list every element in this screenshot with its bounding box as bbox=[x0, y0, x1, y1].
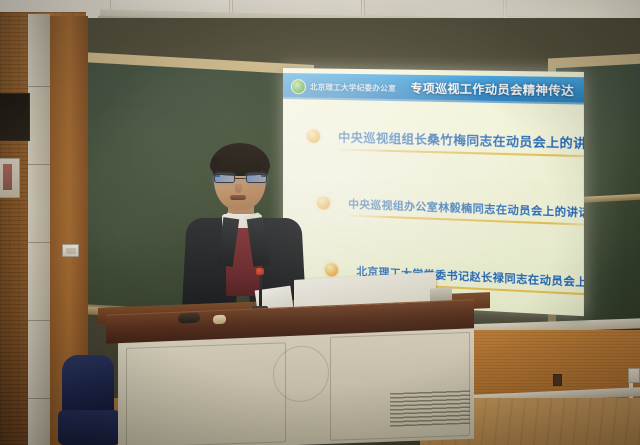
chair-backrest[interactable] bbox=[62, 355, 114, 413]
light-switch[interactable] bbox=[62, 244, 79, 257]
hair bbox=[210, 143, 270, 176]
nose bbox=[235, 184, 242, 193]
presenter-remote[interactable] bbox=[178, 312, 200, 323]
wall-outlet-icon bbox=[628, 368, 640, 383]
chair-seat[interactable] bbox=[58, 410, 120, 445]
lecture-hall-scene: 北京理工大学纪委办公室 专项巡视工作动员会精神传达 中央巡视组组长桑竹梅同志在动… bbox=[0, 0, 640, 445]
lectern-panel-left bbox=[126, 342, 286, 445]
ventilation-grille bbox=[390, 390, 470, 427]
slide-logo: 北京理工大学纪委办公室 bbox=[291, 79, 396, 96]
bullet-dot-icon bbox=[317, 196, 330, 210]
bullet-dot-icon bbox=[307, 129, 320, 142]
glasses-bridge bbox=[235, 178, 246, 179]
slide-header-bar: 北京理工大学纪委办公室 专项巡视工作动员会精神传达 bbox=[283, 73, 584, 105]
bullet-text: 中央巡视组组长桑竹梅同志在动员会上的讲话 bbox=[338, 128, 584, 152]
mouth bbox=[230, 195, 246, 200]
desk-object[interactable] bbox=[213, 315, 226, 325]
lectern-circle-detail bbox=[273, 345, 329, 403]
lens-left bbox=[214, 174, 235, 183]
slide-bullet-item: 中央巡视组组长桑竹梅同志在动员会上的讲话 bbox=[283, 112, 584, 167]
microphone-icon[interactable] bbox=[256, 268, 264, 275]
stone-pilaster bbox=[28, 14, 50, 445]
eyeglasses-icon bbox=[214, 174, 267, 184]
bullet-text-wrap: 中央巡视组组长桑竹梅同志在动员会上的讲话 bbox=[338, 128, 584, 152]
bullet-dot-icon bbox=[325, 262, 338, 276]
wall-notice-sign bbox=[0, 158, 20, 198]
presenter bbox=[178, 142, 313, 322]
wall-outlet-icon bbox=[553, 374, 562, 386]
lens-right bbox=[246, 174, 267, 183]
bullet-text-wrap: 中央巡视组办公室林毅楠同志在动员会上的讲话 bbox=[348, 196, 584, 220]
slide-org-name: 北京理工大学纪委办公室 bbox=[310, 81, 396, 94]
wall-speaker-icon bbox=[0, 93, 30, 141]
slide-bullet-item: 中央巡视组办公室林毅楠同志在动员会上的讲话 bbox=[283, 178, 584, 236]
slide-title: 专项巡视工作动员会精神传达 bbox=[410, 80, 574, 99]
university-emblem-icon bbox=[291, 79, 306, 94]
